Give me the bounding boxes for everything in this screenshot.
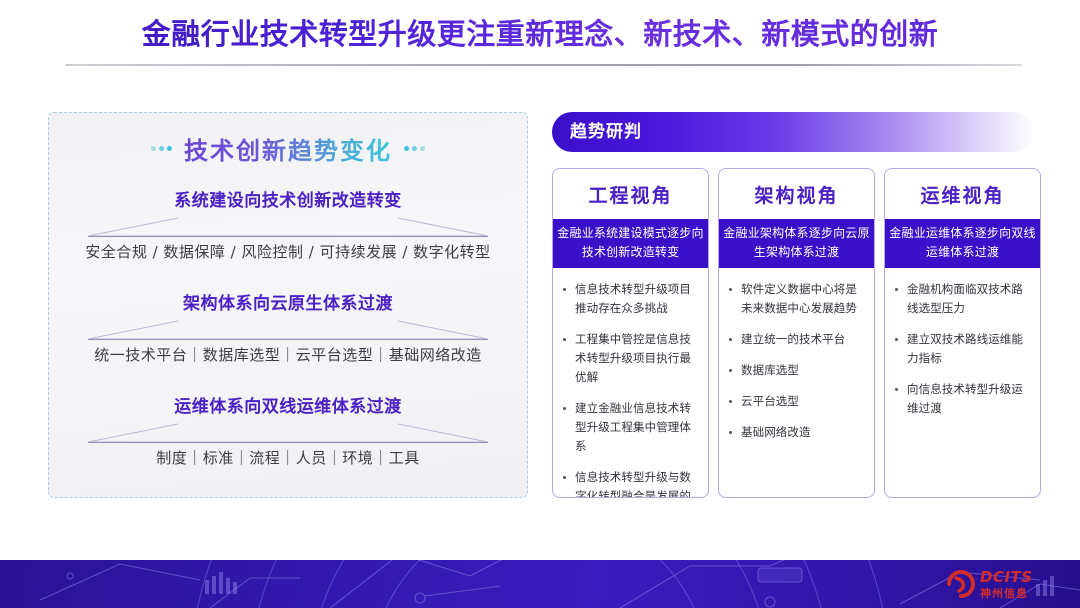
perspective-card-architecture[interactable]: 架构视角 金融业架构体系逐步向云原生架构体系过渡 软件定义数据中心将是未来数据中…	[718, 168, 875, 498]
card-title: 架构视角	[719, 169, 874, 219]
list-item: 云平台选型	[725, 392, 866, 411]
flow-group-2-items: 统一技术平台｜数据库选型｜云平台选型｜基础网络改造	[49, 344, 527, 366]
dcits-mark-icon	[946, 569, 976, 599]
footer-banner: DCITS 神州信息	[0, 560, 1080, 608]
card-title: 运维视角	[885, 169, 1040, 219]
list-item: 数据库选型	[725, 361, 866, 380]
list-item: 工程集中管控是信息技术转型升级项目执行最优解	[559, 330, 700, 387]
dots-right-icon	[404, 146, 425, 151]
logo-cn-text: 神州信息	[980, 588, 1033, 599]
trend-judgement-panel: 趋势研判 工程视角 金融业系统建设模式逐步向技术创新改造转变 信息技术转型升级项…	[552, 112, 1042, 498]
logo-en-text: DCITS	[980, 570, 1033, 585]
flow-group-2-title: 架构体系向云原生体系过渡	[49, 292, 527, 316]
flow-group-3-title: 运维体系向双线运维体系过渡	[49, 395, 527, 419]
dots-left-icon	[151, 146, 172, 151]
trend-change-heading: 技术创新趋势变化	[49, 131, 527, 166]
logo-text: DCITS 神州信息	[980, 570, 1033, 599]
page-title-area: 金融行业技术转型升级更注重新理念、新技术、新模式的创新	[0, 14, 1080, 54]
card-body: 信息技术转型升级项目推动存在众多挑战 工程集中管控是信息技术转型升级项目执行最优…	[553, 268, 708, 498]
card-bullet-list: 金融机构面临双技术路线选型压力 建立双技术路线运维能力指标 向信息技术转型升级运…	[891, 280, 1032, 418]
trend-change-panel: 技术创新趋势变化 系统建设向技术创新改造转变 安全合规 / 数据保障 / 风险控…	[48, 112, 528, 498]
list-item: 软件定义数据中心将是未来数据中心发展趋势	[725, 280, 866, 318]
flow-group-3: 运维体系向双线运维体系过渡 制度｜标准｜流程｜人员｜环境｜工具	[49, 395, 527, 469]
trend-judgement-ribbon-label: 趋势研判	[570, 112, 642, 152]
circuit-pattern-icon	[0, 560, 1080, 608]
list-item: 信息技术转型升级项目推动存在众多挑战	[559, 280, 700, 318]
card-banner: 金融业运维体系逐步向双线运维体系过渡	[885, 219, 1040, 268]
funnel-shape-3	[68, 423, 508, 445]
list-item: 建立双技术路线运维能力指标	[891, 330, 1032, 368]
page-title: 金融行业技术转型升级更注重新理念、新技术、新模式的创新	[0, 14, 1080, 54]
list-item: 信息技术转型升级与数字化转型融合是发展的必行之路	[559, 468, 700, 498]
slide-root: 金融行业技术转型升级更注重新理念、新技术、新模式的创新 技术创新趋势变化 系统建…	[0, 0, 1080, 608]
list-item: 建立统一的技术平台	[725, 330, 866, 349]
card-bullet-list: 信息技术转型升级项目推动存在众多挑战 工程集中管控是信息技术转型升级项目执行最优…	[559, 280, 700, 498]
perspective-card-list: 工程视角 金融业系统建设模式逐步向技术创新改造转变 信息技术转型升级项目推动存在…	[552, 168, 1042, 498]
flow-group-3-items: 制度｜标准｜流程｜人员｜环境｜工具	[49, 447, 527, 469]
card-body: 金融机构面临双技术路线选型压力 建立双技术路线运维能力指标 向信息技术转型升级运…	[885, 268, 1040, 438]
flow-group-2: 架构体系向云原生体系过渡 统一技术平台｜数据库选型｜云平台选型｜基础网络改造	[49, 292, 527, 366]
company-logo: DCITS 神州信息	[946, 565, 1062, 603]
funnel-shape-1	[68, 217, 508, 239]
trend-change-heading-text: 技术创新趋势变化	[184, 131, 392, 166]
funnel-shape-2	[68, 320, 508, 342]
flow-group-1-items: 安全合规 / 数据保障 / 风险控制 / 可持续发展 / 数字化转型	[49, 241, 527, 263]
flow-group-1: 系统建设向技术创新改造转变 安全合规 / 数据保障 / 风险控制 / 可持续发展…	[49, 189, 527, 263]
trend-judgement-ribbon: 趋势研判	[552, 112, 1035, 152]
card-title: 工程视角	[553, 169, 708, 219]
perspective-card-operations[interactable]: 运维视角 金融业运维体系逐步向双线运维体系过渡 金融机构面临双技术路线选型压力 …	[884, 168, 1041, 498]
title-divider	[65, 64, 1022, 66]
list-item: 建立金融业信息技术转型升级工程集中管理体系	[559, 399, 700, 456]
list-item: 金融机构面临双技术路线选型压力	[891, 280, 1032, 318]
list-item: 向信息技术转型升级运维过渡	[891, 380, 1032, 418]
card-body: 软件定义数据中心将是未来数据中心发展趋势 建立统一的技术平台 数据库选型 云平台…	[719, 268, 874, 462]
card-banner: 金融业系统建设模式逐步向技术创新改造转变	[553, 219, 708, 268]
perspective-card-engineering[interactable]: 工程视角 金融业系统建设模式逐步向技术创新改造转变 信息技术转型升级项目推动存在…	[552, 168, 709, 498]
card-banner: 金融业架构体系逐步向云原生架构体系过渡	[719, 219, 874, 268]
list-item: 基础网络改造	[725, 423, 866, 442]
flow-group-1-title: 系统建设向技术创新改造转变	[49, 189, 527, 213]
card-bullet-list: 软件定义数据中心将是未来数据中心发展趋势 建立统一的技术平台 数据库选型 云平台…	[725, 280, 866, 442]
